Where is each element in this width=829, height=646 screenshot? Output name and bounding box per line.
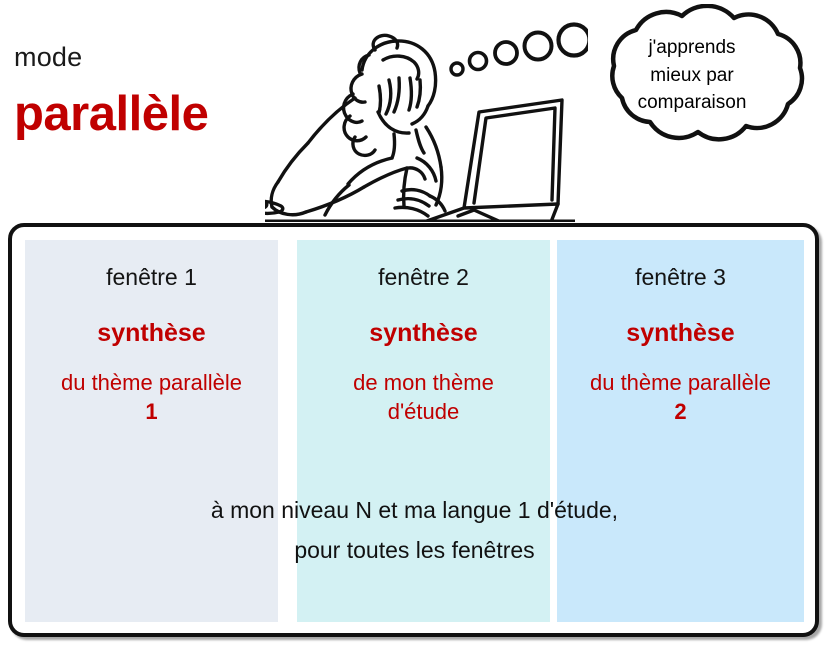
window-panel-3-number: 2 — [674, 399, 686, 424]
window-panel-1-number: 1 — [145, 399, 157, 424]
window-panel-2-title: fenêtre 2 — [297, 266, 550, 289]
window-columns: fenêtre 1 synthèse du thème parallèle 1 … — [25, 240, 804, 622]
window-panel-2-subtitle: de mon thème d'étude — [297, 368, 550, 426]
window-panel-3-title: fenêtre 3 — [557, 266, 804, 289]
slide-canvas: mode parallèle — [0, 0, 829, 646]
window-panel-1-subtitle-text: du thème parallèle — [61, 370, 242, 395]
window-panel-1[interactable]: fenêtre 1 synthèse du thème parallèle 1 — [25, 240, 278, 622]
thought-cloud-bubble: j'apprends mieux par comparaison — [558, 4, 826, 174]
window-panel-3-subtitle: du thème parallèle 2 — [557, 368, 804, 426]
window-panel-1-subtitle: du thème parallèle 1 — [25, 368, 278, 426]
window-panel-1-synthesis: synthèse — [25, 321, 278, 346]
window-panel-2-synthesis: synthèse — [297, 321, 550, 346]
header-area: mode parallèle — [0, 0, 829, 222]
mode-label: mode — [14, 44, 82, 71]
mode-title: parallèle — [14, 90, 208, 139]
window-panel-1-title: fenêtre 1 — [25, 266, 278, 289]
window-panel-3-synthesis: synthèse — [557, 321, 804, 346]
window-panel-2-subtitle-text: de mon thème — [353, 370, 494, 395]
window-panel-3-subtitle-text: du thème parallèle — [590, 370, 771, 395]
window-panel-3[interactable]: fenêtre 3 synthèse du thème parallèle 2 — [557, 240, 804, 622]
window-panel-2-number: d'étude — [388, 399, 460, 424]
window-panel-2[interactable]: fenêtre 2 synthèse de mon thème d'étude — [297, 240, 550, 622]
